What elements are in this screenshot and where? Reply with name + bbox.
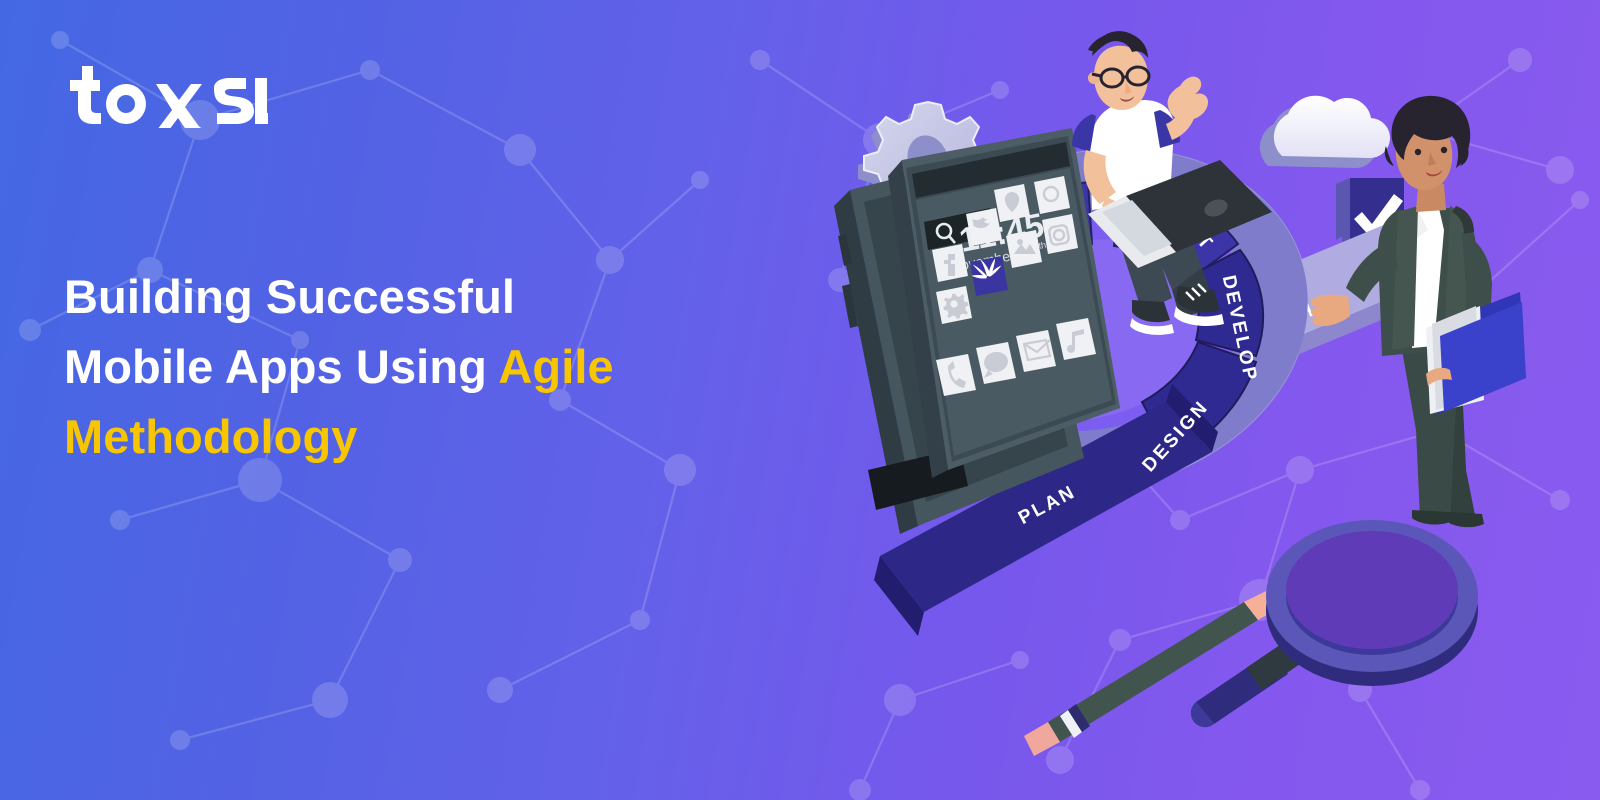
thumbs-up-hand xyxy=(1168,77,1208,121)
headline-highlight-agile: Agile xyxy=(498,340,613,393)
toxsl-logo[interactable] xyxy=(64,58,274,128)
app-icon-settings-gear[interactable] xyxy=(936,286,972,324)
promo-banner: Building Successful Mobile Apps Using Ag… xyxy=(0,0,1600,800)
app-icon-twitter[interactable] xyxy=(966,208,1002,246)
headline-line-3: Methodology xyxy=(64,402,824,472)
page-title: Building Successful Mobile Apps Using Ag… xyxy=(64,262,824,472)
app-icon-camera[interactable] xyxy=(1034,176,1070,214)
cloud-icon xyxy=(1260,96,1390,168)
app-icon-location-pin[interactable] xyxy=(994,184,1030,222)
app-icon-instagram[interactable] xyxy=(1042,214,1078,254)
headline-line-1: Building Successful xyxy=(64,262,824,332)
agile-illustration: LAUNCH xyxy=(820,0,1600,800)
headline-line-2: Mobile Apps Using Agile xyxy=(64,332,824,402)
app-icon-facebook[interactable] xyxy=(932,244,968,282)
app-icon-toxsl[interactable] xyxy=(969,256,1008,296)
app-icon-photo[interactable] xyxy=(1006,230,1042,268)
headline-highlight-methodology: Methodology xyxy=(64,410,358,463)
